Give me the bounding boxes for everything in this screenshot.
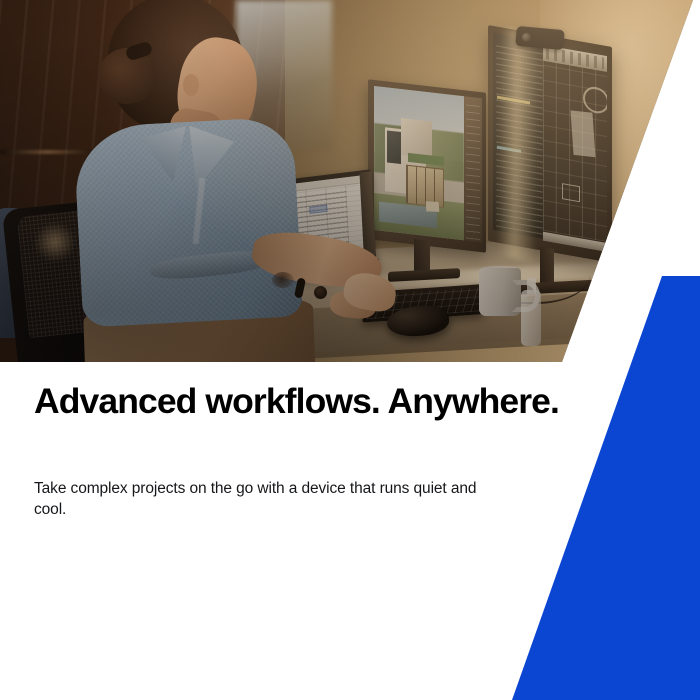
render-house-upper [401, 118, 432, 159]
photo-scene [0, 0, 700, 362]
hero-photo [0, 0, 700, 362]
webcam [515, 26, 565, 50]
water-bottle [521, 290, 541, 346]
monitor-primary [368, 79, 486, 252]
render-lounger [426, 202, 439, 213]
cad-circle [583, 85, 608, 116]
monitor-primary-screen [374, 86, 464, 240]
subtitle-text: Take complex projects on the go with a d… [34, 420, 482, 521]
woman-watch [314, 286, 327, 299]
woman-shirt [73, 116, 303, 327]
cad-box [562, 183, 580, 202]
cad-screen [543, 45, 607, 252]
woman-ear [183, 74, 199, 96]
render-tool-panel-rows [466, 98, 480, 240]
render-house-dark-panel [387, 131, 401, 164]
page-title: Advanced workflows. Anywhere. [34, 382, 504, 420]
marketing-slide: Advanced workflows. Anywhere. Take compl… [0, 0, 700, 700]
webcam-lens-icon [522, 32, 532, 42]
woman-tattoo [272, 272, 294, 288]
render-tool-panel [464, 96, 482, 242]
cad-canvas [543, 61, 607, 242]
copy-block: Advanced workflows. Anywhere. Take compl… [34, 382, 504, 521]
chair-backlight [34, 222, 76, 262]
screen-glare [496, 26, 540, 263]
cad-plate [571, 111, 596, 158]
wood-wall-seam [0, 150, 95, 154]
